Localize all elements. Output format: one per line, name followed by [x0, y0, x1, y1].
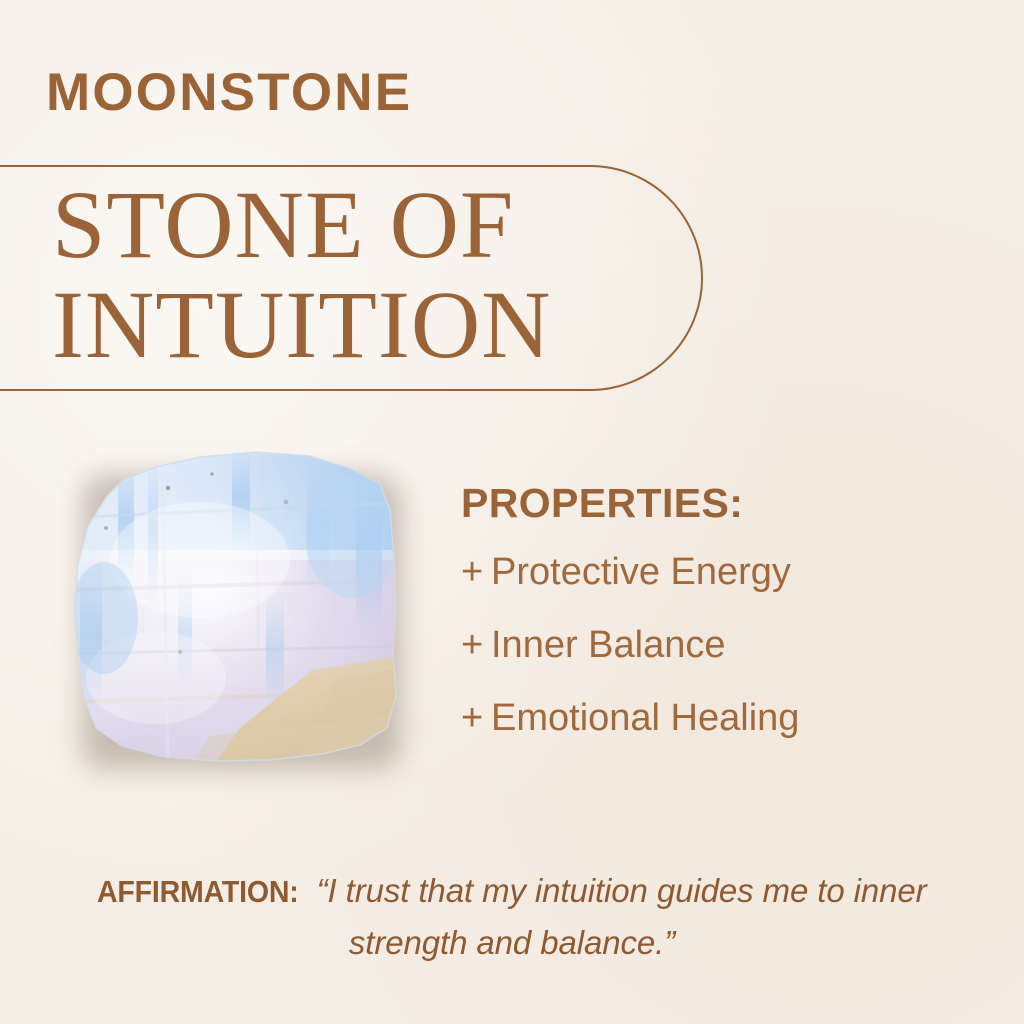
moonstone-illustration	[60, 440, 415, 770]
property-item-label: Emotional Healing	[491, 697, 799, 739]
plus-icon: +	[461, 699, 491, 737]
moonstone-crystal-card: MOONSTONE STONE OF INTUITION	[0, 0, 1024, 1024]
title-pill-inner: STONE OF INTUITION	[0, 167, 701, 389]
property-item-label: Protective Energy	[491, 551, 791, 593]
properties-heading: PROPERTIES:	[461, 483, 981, 524]
affirmation-section: AFFIRMATION:“I trust that my intuition g…	[44, 868, 980, 972]
properties-section: PROPERTIES: +Protective Energy +Inner Ba…	[461, 483, 981, 772]
page-title-line-1: STONE OF	[52, 175, 552, 275]
page-title-line-2: INTUITION	[52, 275, 552, 375]
page-title: STONE OF INTUITION	[52, 175, 552, 375]
title-pill-frame: STONE OF INTUITION	[0, 165, 703, 391]
plus-icon: +	[461, 553, 491, 591]
property-item: +Inner Balance	[461, 626, 981, 664]
property-item-label: Inner Balance	[491, 624, 726, 666]
property-item: +Protective Energy	[461, 553, 981, 591]
affirmation-quote: “I trust that my intuition guides me to …	[317, 872, 927, 961]
moonstone-image	[60, 440, 415, 770]
crystal-name-eyebrow: MOONSTONE	[46, 66, 412, 119]
affirmation-label: AFFIRMATION:	[97, 869, 299, 914]
property-item: +Emotional Healing	[461, 699, 981, 737]
plus-icon: +	[461, 626, 491, 664]
